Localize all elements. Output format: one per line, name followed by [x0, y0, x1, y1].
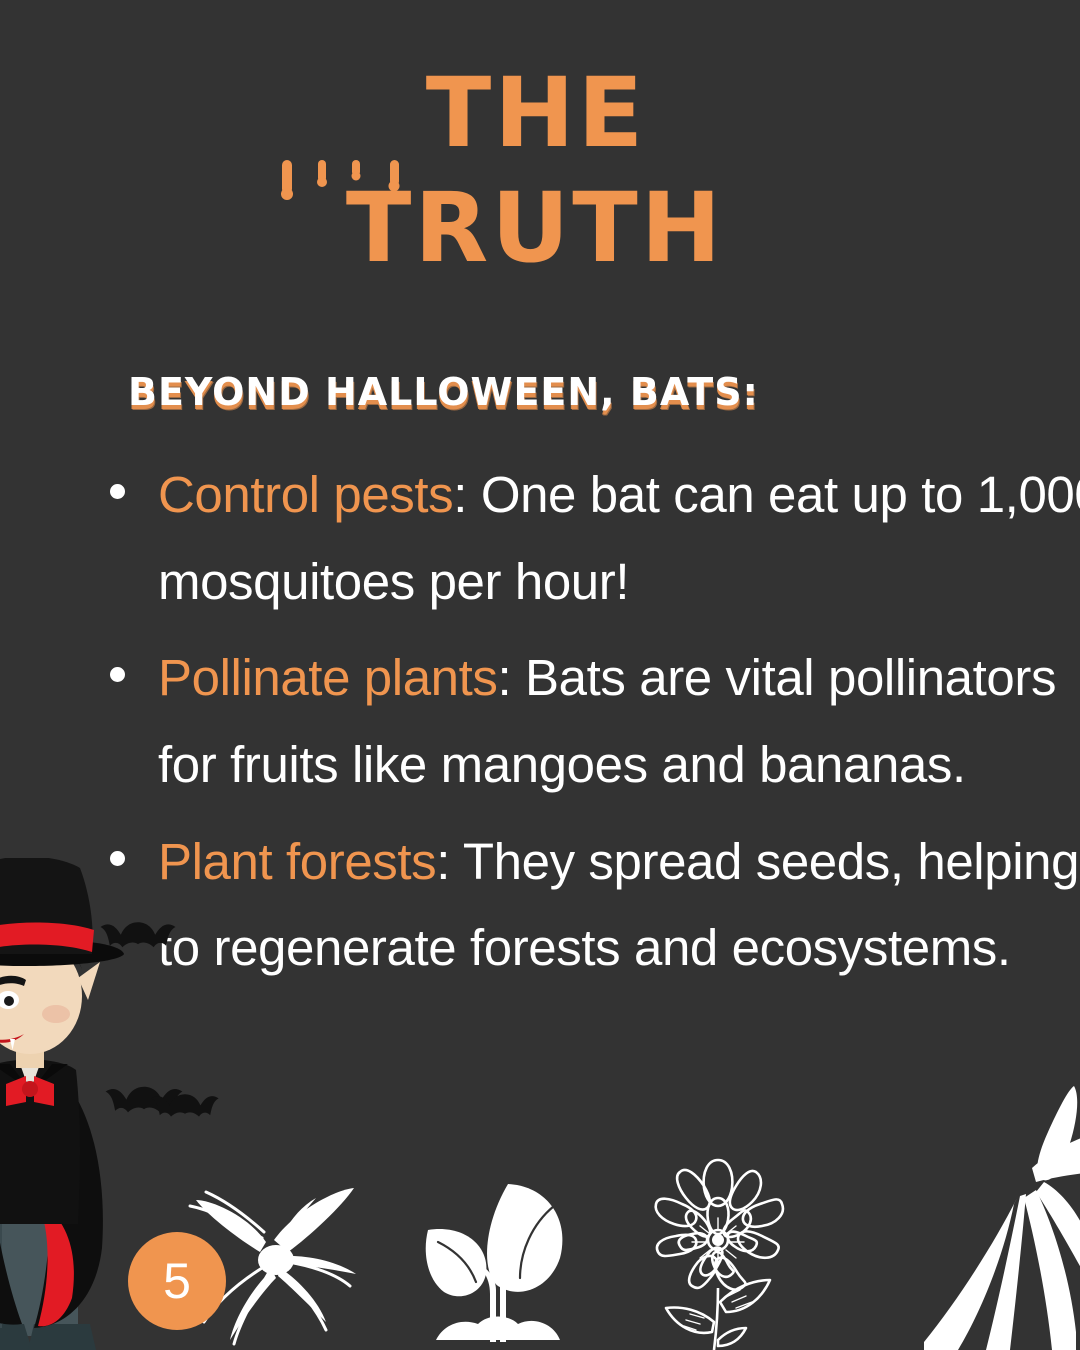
list-item-text: Pollinate plants: Bats are vital pollina…: [158, 635, 1080, 808]
bullet-dot-icon: [110, 667, 125, 682]
subtitle: BEYOND HALLOWEEN, BATS:: [128, 370, 759, 414]
page-number-badge: 5: [128, 1232, 226, 1330]
list-item-lead: Pollinate plants: [158, 649, 498, 706]
palm-fan-icon: [924, 1086, 1080, 1350]
bullet-dot-icon: [110, 484, 125, 499]
list-item: Pollinate plants: Bats are vital pollina…: [110, 635, 1080, 808]
list-item-lead: Control pests: [158, 466, 453, 523]
flower-icon: [628, 1146, 808, 1350]
list-item: Control pests: One bat can eat up to 1,0…: [110, 452, 1080, 625]
sprout-icon: [408, 1162, 598, 1350]
page-number-label: 5: [163, 1256, 191, 1306]
list-item-text: Control pests: One bat can eat up to 1,0…: [158, 452, 1080, 625]
list-item-text: Plant forests: They spread seeds, helpin…: [158, 819, 1080, 992]
list-item: Plant forests: They spread seeds, helpin…: [110, 819, 1080, 992]
title-drip-decoration: [0, 0, 1080, 260]
slide-canvas: THE TRUTH BEYOND HALLOWEEN, BATS: Contro…: [0, 0, 1080, 1350]
list-item-lead: Plant forests: [158, 833, 436, 890]
bullet-list: Control pests: One bat can eat up to 1,0…: [110, 452, 1080, 1002]
